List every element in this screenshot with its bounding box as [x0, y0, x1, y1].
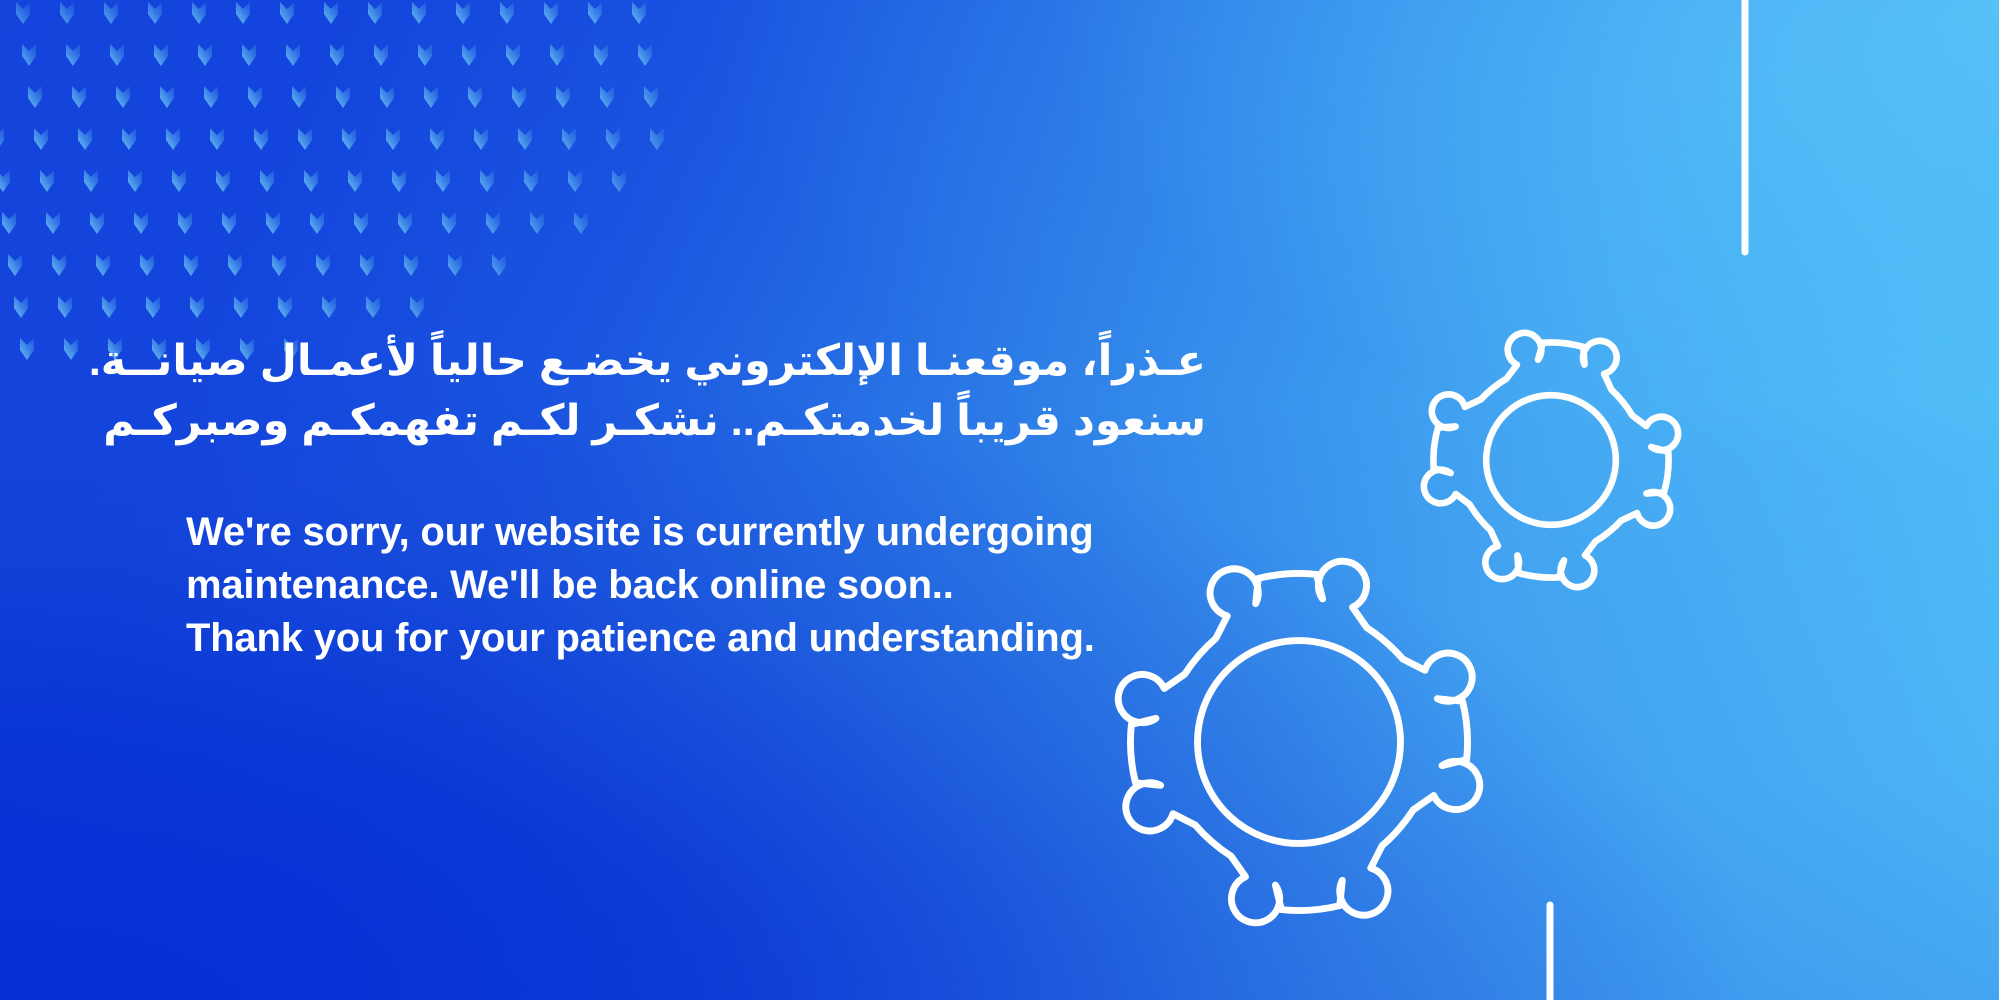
- arabic-message-line-2: سنعود قريباً لخدمتكـم.. نشكـر لكـم تفهمك…: [186, 394, 1206, 450]
- maintenance-message: عـذراً، موقعنـا الإلكتروني يخضـع حالياً …: [186, 334, 1206, 665]
- english-message-line-2: maintenance. We'll be back online soon..: [186, 559, 1206, 612]
- english-message-line-3: Thank you for your patience and understa…: [186, 612, 1206, 665]
- english-message: We're sorry, our website is currently un…: [186, 506, 1206, 666]
- arabic-message: عـذراً، موقعنـا الإلكتروني يخضـع حالياً …: [186, 334, 1206, 450]
- maintenance-page: عـذراً، موقعنـا الإلكتروني يخضـع حالياً …: [0, 0, 1999, 1000]
- english-message-line-1: We're sorry, our website is currently un…: [186, 506, 1206, 559]
- arabic-message-line-1: عـذراً، موقعنـا الإلكتروني يخضـع حالياً …: [186, 334, 1206, 390]
